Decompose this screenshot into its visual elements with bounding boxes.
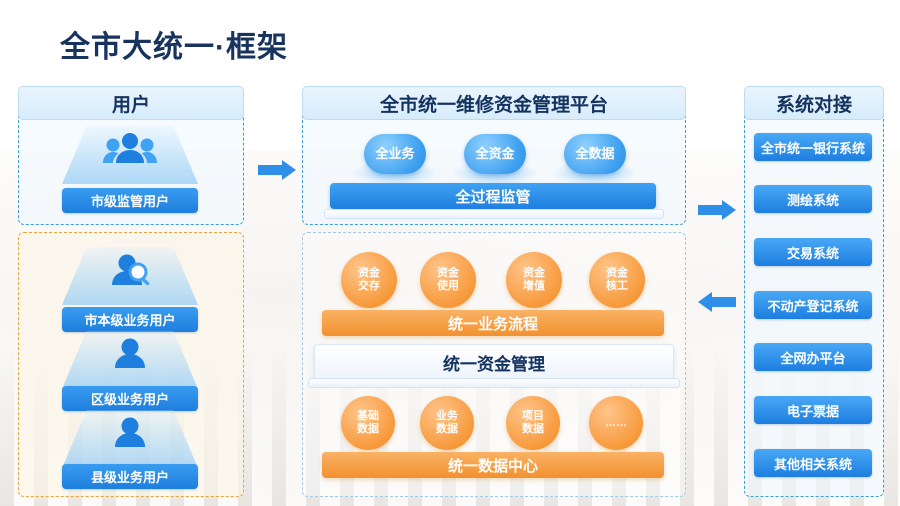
platform-bar-label: 全过程监管: [455, 186, 530, 207]
platform-bar-unified-business-process[interactable]: 统一业务流程: [322, 310, 664, 336]
platform-bubble-all-data[interactable]: 全数据: [564, 134, 626, 174]
data-circle-label: 业务 数据: [436, 410, 458, 435]
platform-base-plate: [308, 378, 680, 388]
data-circle-label: 基础 数据: [357, 410, 379, 435]
users-column-header: 用户: [18, 86, 244, 120]
flow-circle-fund-appreciation[interactable]: 资金 增值: [506, 252, 562, 308]
flow-circle-label: 资金 核工: [606, 267, 628, 292]
user-label-text: 县级业务用户: [91, 467, 169, 486]
platform-column-header: 全市统一维修资金管理平台: [302, 86, 686, 120]
data-circle-ellipsis[interactable]: ……: [589, 396, 643, 450]
system-item-trading[interactable]: 交易系统: [754, 238, 872, 266]
users-group-icon: [103, 130, 157, 175]
arrow-systems-to-platform: [698, 292, 736, 312]
user-label-text: 区级业务用户: [91, 389, 169, 408]
data-circle-basic-data[interactable]: 基础 数据: [341, 396, 395, 450]
system-item-label: 全网办平台: [780, 348, 845, 367]
bubble-label: 全数据: [575, 147, 614, 162]
platform-bubble-all-funds[interactable]: 全资金: [464, 134, 526, 174]
user-label-district-business[interactable]: 区级业务用户: [62, 386, 198, 411]
system-item-label: 电子票据: [787, 401, 839, 420]
data-circle-label: 项目 数据: [522, 410, 544, 435]
system-item-real-estate-registration[interactable]: 不动产登记系统: [754, 291, 872, 319]
system-item-label: 不动产登记系统: [767, 296, 858, 315]
arrow-users-to-platform: [258, 160, 296, 180]
systems-column-header-label: 系统对接: [776, 90, 852, 117]
flow-circle-fund-use[interactable]: 资金 使用: [420, 252, 476, 308]
user-card-county-business[interactable]: [62, 410, 198, 468]
user-icon: [108, 414, 152, 457]
system-item-label: 全市统一银行系统: [761, 138, 865, 157]
platform-bar-unified-data-center[interactable]: 统一数据中心: [322, 452, 664, 478]
platform-bar-unified-fund-management[interactable]: 统一资金管理: [314, 344, 674, 380]
user-card-district-business[interactable]: [62, 331, 198, 389]
system-item-label: 其他相关系统: [774, 454, 852, 473]
system-item-label: 交易系统: [787, 243, 839, 262]
platform-column-header-label: 全市统一维修资金管理平台: [380, 90, 608, 117]
platform-base-plate: [324, 209, 664, 219]
flow-circle-label: 资金 使用: [437, 267, 459, 292]
systems-column-header: 系统对接: [744, 86, 884, 120]
data-circle-project-data[interactable]: 项目 数据: [506, 396, 560, 450]
system-item-online-service-platform[interactable]: 全网办平台: [754, 343, 872, 371]
bubble-label: 全业务: [375, 147, 414, 162]
system-item-label: 测绘系统: [787, 190, 839, 209]
user-search-icon: [105, 251, 155, 296]
system-item-electronic-invoice[interactable]: 电子票据: [754, 396, 872, 424]
platform-bar-label: 统一资金管理: [443, 350, 545, 375]
platform-bar-label: 统一数据中心: [448, 455, 538, 476]
user-label-county-business[interactable]: 县级业务用户: [62, 464, 198, 489]
arrow-platform-to-systems: [698, 200, 736, 220]
system-item-surveying[interactable]: 测绘系统: [754, 185, 872, 213]
platform-bar-full-process-supervision[interactable]: 全过程监管: [330, 183, 656, 209]
page-title: 全市大统一·框架: [60, 22, 288, 66]
user-label-city-business[interactable]: 市本级业务用户: [62, 307, 198, 332]
user-card-city-business[interactable]: [62, 247, 198, 309]
user-icon: [108, 335, 152, 378]
user-card-city-supervisor[interactable]: [62, 126, 198, 188]
data-circle-label: ……: [605, 417, 627, 430]
user-label-text: 市级监管用户: [91, 191, 169, 210]
flow-circle-label: 资金 交存: [358, 267, 380, 292]
flow-circle-fund-verification[interactable]: 资金 核工: [589, 252, 645, 308]
flow-circle-fund-deposit[interactable]: 资金 交存: [341, 252, 397, 308]
platform-bubble-all-business[interactable]: 全业务: [364, 134, 426, 174]
flow-circle-label: 资金 增值: [523, 267, 545, 292]
system-item-other-systems[interactable]: 其他相关系统: [754, 449, 872, 477]
platform-bar-label: 统一业务流程: [448, 313, 538, 334]
data-circle-business-data[interactable]: 业务 数据: [420, 396, 474, 450]
system-item-unified-bank[interactable]: 全市统一银行系统: [754, 133, 872, 161]
user-label-city-supervisor[interactable]: 市级监管用户: [62, 188, 198, 213]
users-column-header-label: 用户: [112, 90, 150, 117]
user-label-text: 市本级业务用户: [84, 310, 175, 329]
bubble-label: 全资金: [475, 147, 514, 162]
